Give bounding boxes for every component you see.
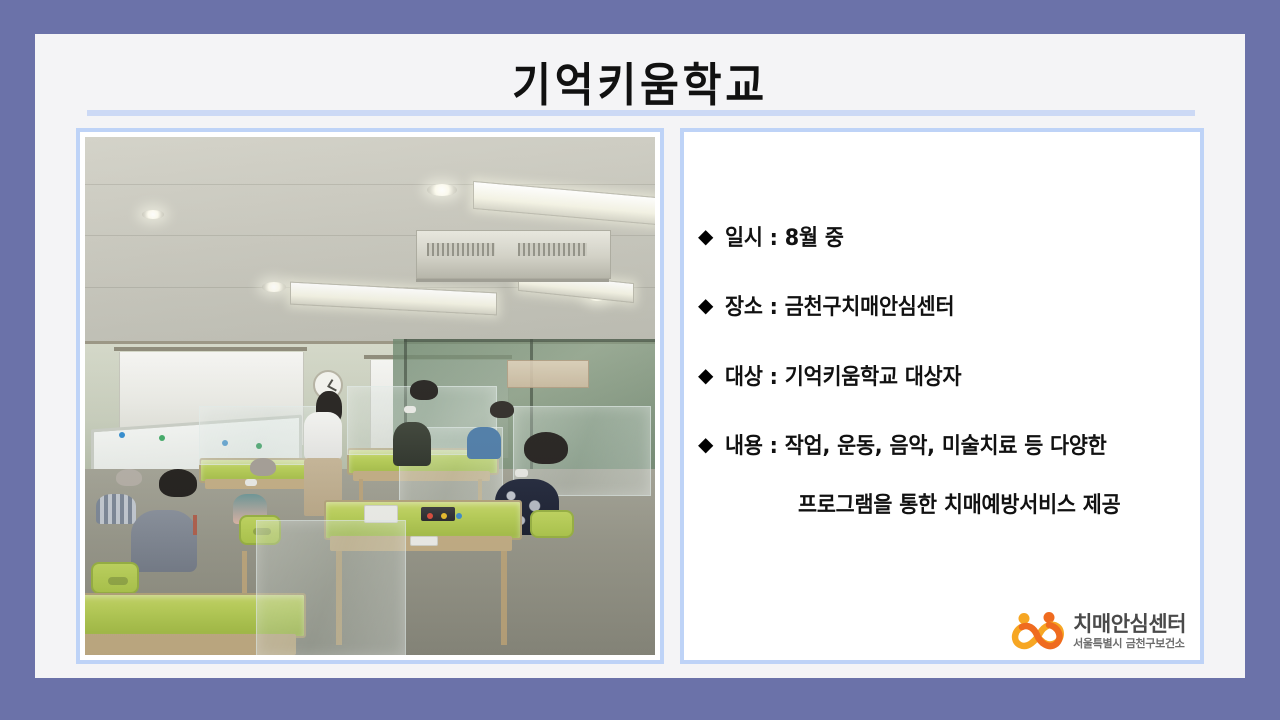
person-head [524,432,568,464]
diamond-bullet-icon: ◆ [698,295,713,318]
ac-vent [518,243,586,256]
person-head [490,401,514,418]
center-logo: 치매안심센터 서울특별시 금천구보건소 [1011,612,1186,650]
person-body [393,422,431,466]
paint-well [427,513,433,519]
person-head [410,380,438,400]
person-head [116,469,142,486]
diamond-bullet-icon: ◆ [698,365,713,388]
list-item: ◆ 대상 : 기억키움학교 대상자 [698,365,1190,390]
blind-header [114,347,308,351]
classroom-photo [85,137,655,655]
info-item-content-continuation: 프로그램을 통한 치매예방서비스 제공 [798,487,1166,519]
person-head [250,458,276,476]
table-leg [501,551,507,644]
paint-well [441,513,447,519]
title-divider [87,110,1195,116]
table-apron [205,479,319,489]
diamond-bullet-icon: ◆ [698,434,713,457]
acrylic-divider [256,520,406,655]
info-item-content: 내용 : 작업, 운동, 음악, 미술치료 등 다양한 [725,434,1107,459]
logo-subtitle: 서울특별시 금천구보건소 [1073,638,1186,649]
whiteboard-magnet [159,435,165,441]
info-item-place: 장소 : 금천구치매안심센터 [725,295,954,320]
info-panel: ◆ 일시 : 8월 중 ◆ 장소 : 금천구치매안심센터 ◆ 대상 : 기억키움… [680,128,1204,664]
person-head [159,469,197,497]
list-item: ◆ 일시 : 8월 중 [698,226,1190,251]
face-mask [404,406,416,413]
classroom-chair [530,510,574,538]
person-body [467,427,501,459]
face-mask [245,479,257,486]
paint-well [456,513,462,519]
ceiling-seam [85,184,655,185]
face-mask [515,469,528,477]
diamond-bullet-icon: ◆ [698,226,713,249]
ceiling-downlight [142,210,164,219]
slide-canvas: 기억키움학교 [0,0,1280,720]
person-body [96,494,136,524]
two-people-loop-icon [1011,612,1065,650]
ac-support-arm [416,279,610,282]
info-bullet-list: ◆ 일시 : 8월 중 ◆ 장소 : 금천구치매안심센터 ◆ 대상 : 기억키움… [698,226,1190,519]
info-item-date: 일시 : 8월 중 [725,226,844,251]
glass-mullion [404,339,655,342]
list-item: ◆ 장소 : 금천구치매안심센터 [698,295,1190,320]
chair-handle [108,577,128,585]
ac-vent [427,243,495,256]
wall-sign [507,360,589,388]
page-title-text: 기억키움학교 [512,62,768,108]
person-body [131,510,197,572]
instructor-blouse [304,412,342,460]
art-paper [410,536,438,546]
logo-title: 치매안심센터 [1073,614,1186,635]
list-item: ◆ 내용 : 작업, 운동, 음악, 미술치료 등 다양한 [698,434,1190,459]
lanyard [193,515,197,535]
logo-text-block: 치매안심센터 서울특별시 금천구보건소 [1073,614,1186,649]
photo-panel [76,128,664,664]
info-item-target: 대상 : 기억키움학교 대상자 [725,365,961,390]
slide-card: 기억키움학교 [35,34,1245,678]
ceiling-downlight [262,282,286,292]
ceiling-downlight [427,184,457,196]
